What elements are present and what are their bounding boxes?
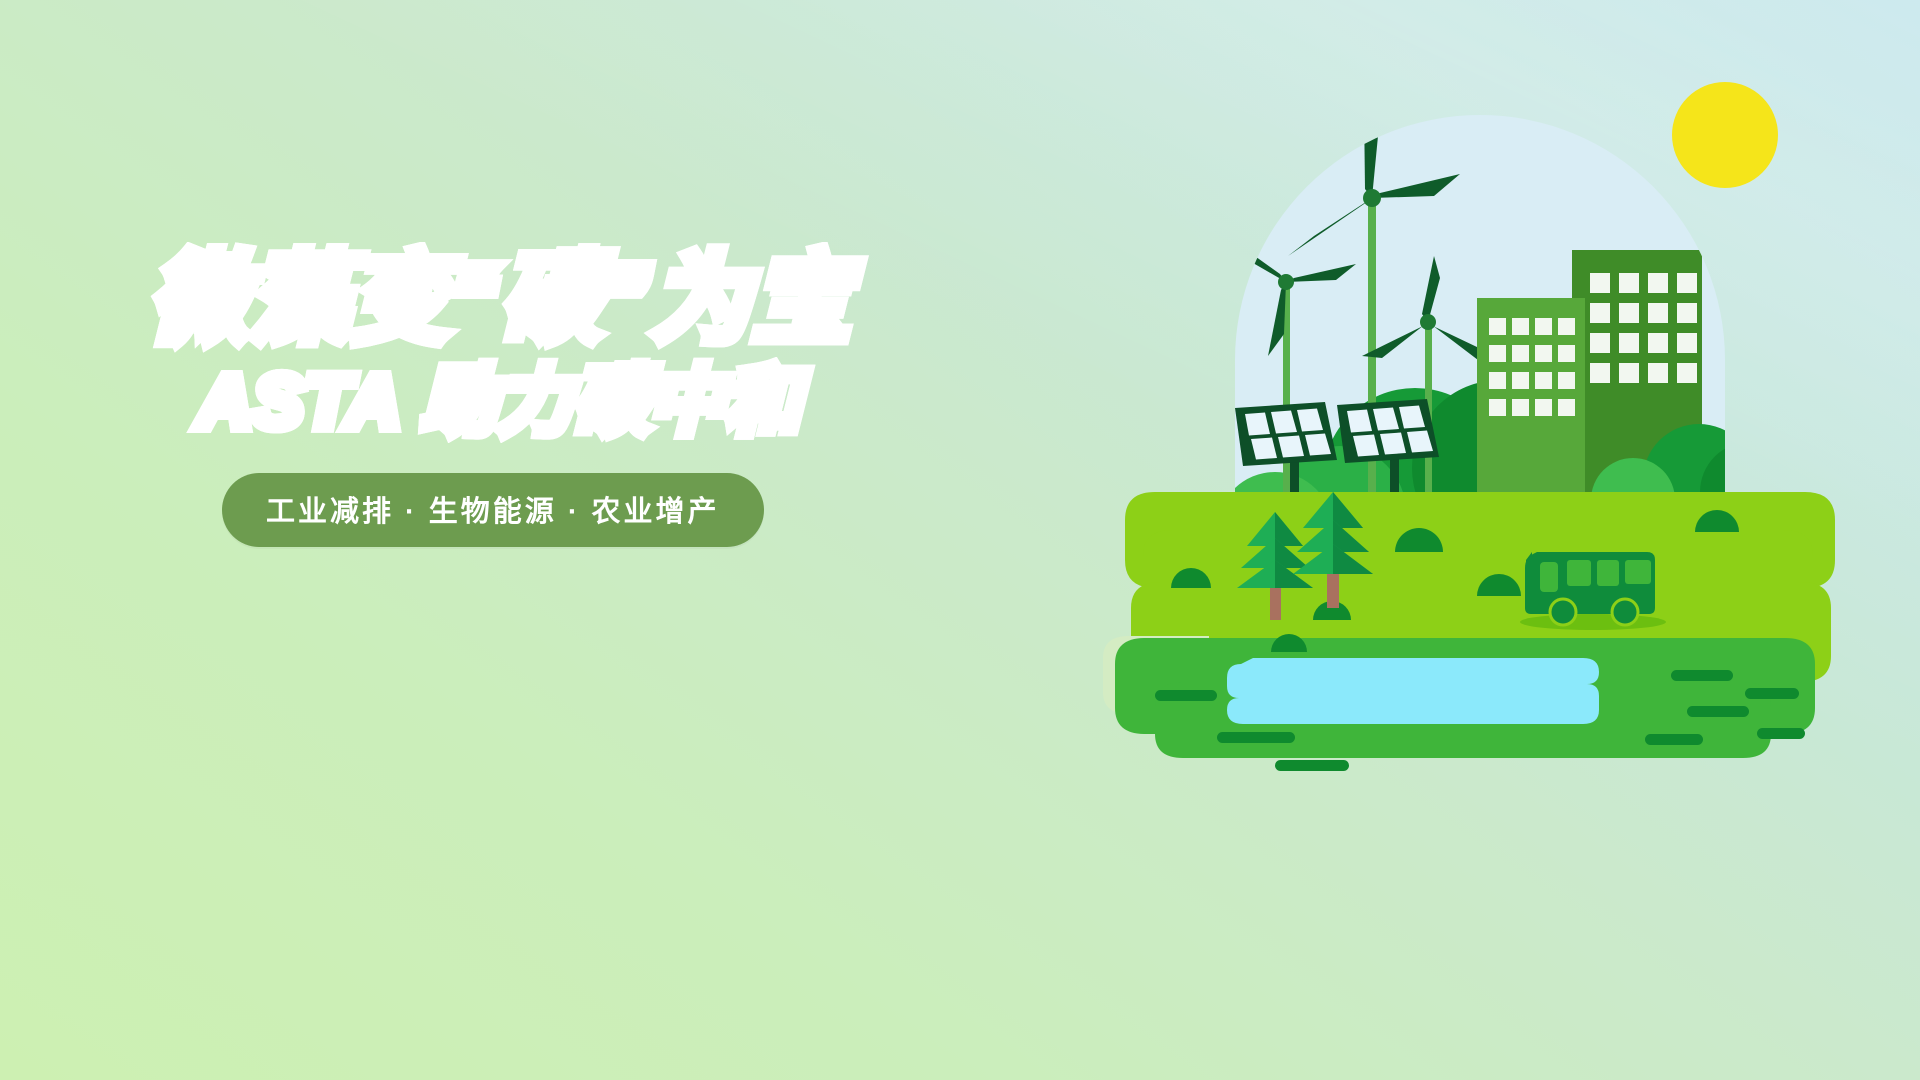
page-subtitle: ASTA 助力碳中和 ASTA 助力碳中和: [150, 364, 910, 439]
page-subtitle-fill: ASTA 助力碳中和: [198, 360, 802, 443]
page-title: 微藻变“碳”为宝 微藻变“碳”为宝: [150, 250, 910, 350]
green-eco-city-illustration: [1085, 60, 1875, 780]
grass-layers: [1103, 492, 1835, 771]
headline-block: 微藻变“碳”为宝 微藻变“碳”为宝 ASTA 助力碳中和 ASTA 助力碳中和 …: [150, 250, 910, 547]
bus: [1520, 552, 1666, 630]
pond: [1227, 658, 1599, 724]
promo-banner: 微藻变“碳”为宝 微藻变“碳”为宝 ASTA 助力碳中和 ASTA 助力碳中和 …: [0, 0, 1920, 1080]
page-title-fill: 微藻变“碳”为宝: [150, 244, 852, 354]
building-front: [1477, 298, 1585, 510]
tagline-pill: 工业减排 · 生物能源 · 农业增产: [222, 473, 764, 547]
sun-icon: [1672, 82, 1778, 188]
tagline-text: 工业减排 · 生物能源 · 农业增产: [266, 496, 720, 528]
